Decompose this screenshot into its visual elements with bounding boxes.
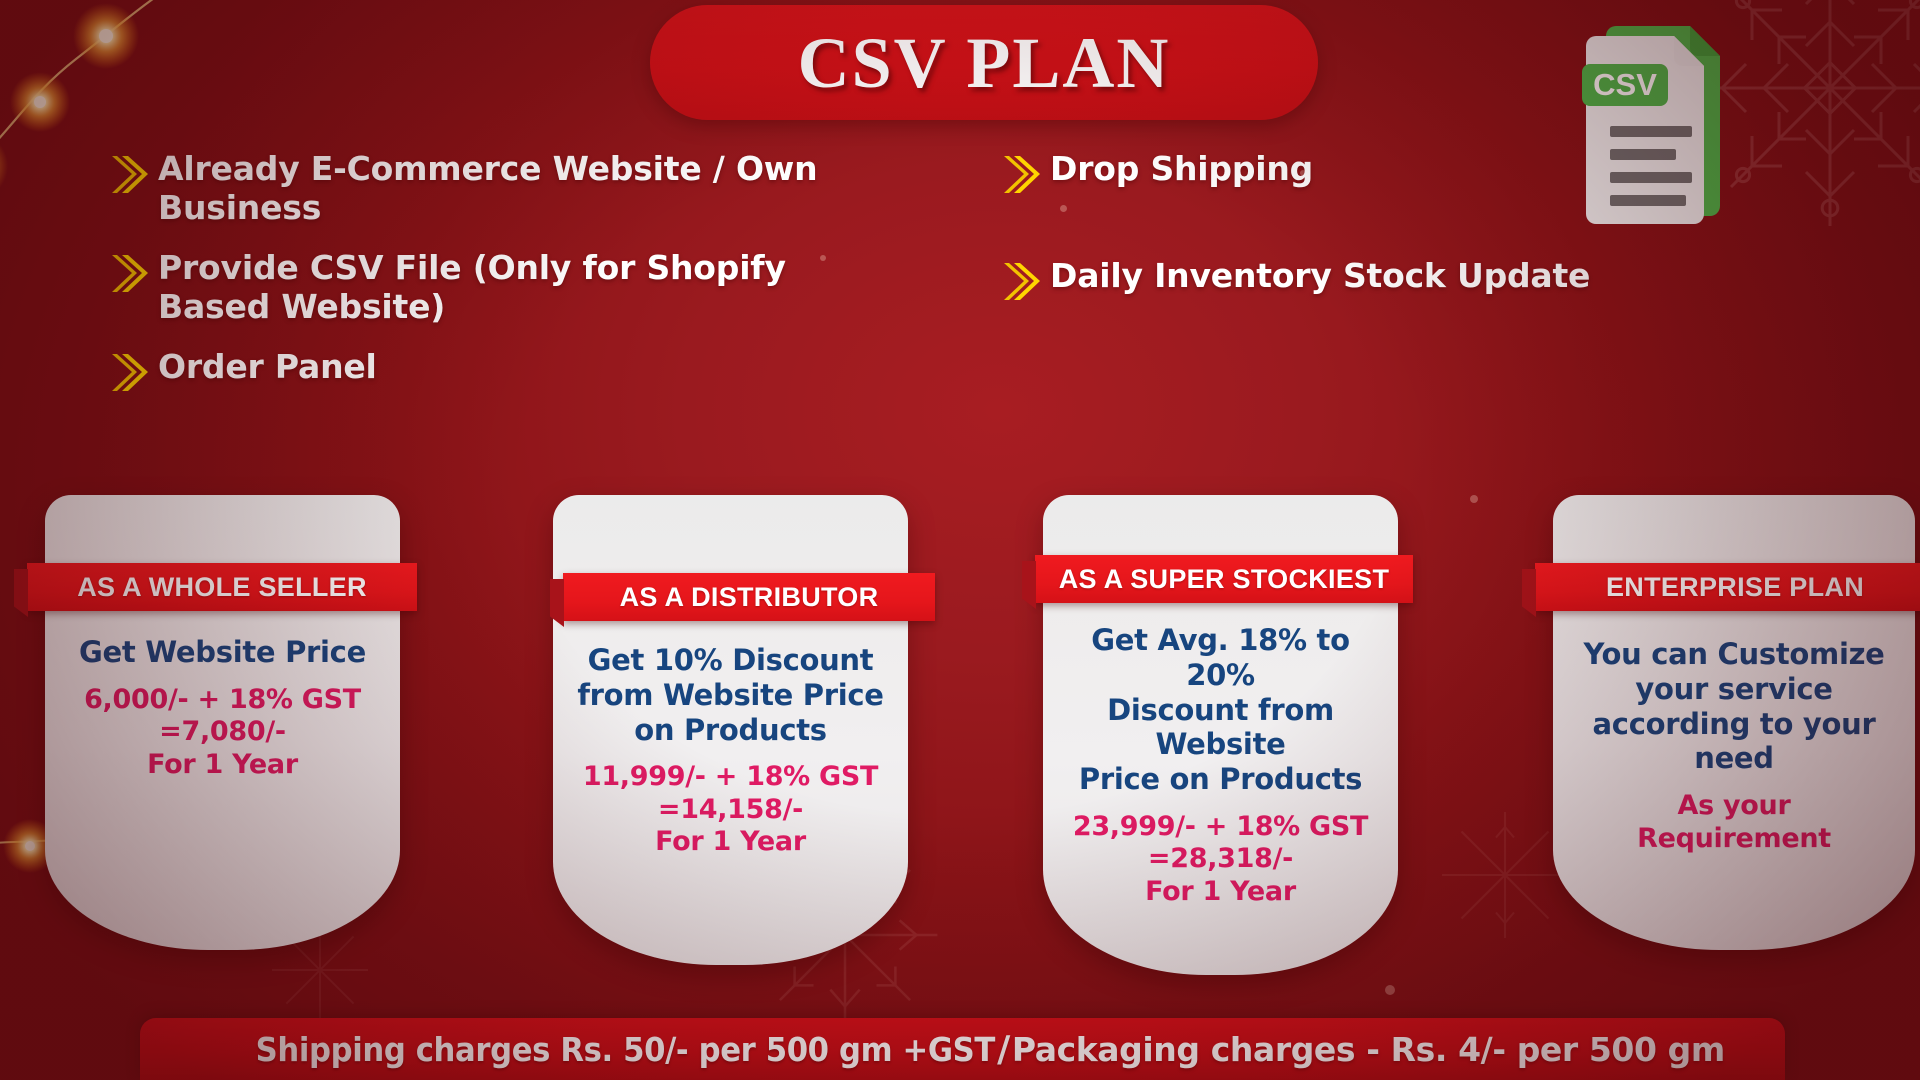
feature-item-label: Order Panel [158,348,377,387]
plan-ribbon-label: AS A SUPER STOCKIEST [1059,564,1390,595]
plan-spacer [565,747,896,761]
plan-headline-line: Website [1055,727,1386,762]
plan-headline-line: Price on Products [1055,762,1386,797]
plan-price-line: For 1 Year [57,749,388,781]
double-chevron-right-icon [108,252,150,296]
feature-item-label: Drop Shipping [1050,150,1313,189]
double-chevron-right-icon [1000,260,1042,304]
charges-footer-bar: Shipping charges Rs. 50/- per 500 gm +GS… [140,1018,1785,1080]
plan-headline-line: You can Customize [1565,637,1903,672]
packaging-charges-text: Packaging charges - Rs. 4/- per 500 gm [1012,1030,1725,1069]
plan-card-content: Get Website Price6,000/- + 18% GST=7,080… [45,635,400,781]
poster-canvas: CSV PLAN CSV Already E-Commerce Website … [0,0,1920,1080]
feature-item: Provide CSV File (Only for Shopify Based… [108,249,868,326]
plan-headline-line: Get Website Price [57,635,388,670]
double-chevron-right-icon [108,351,150,395]
plan-price-line: For 1 Year [1055,876,1386,908]
plan-ribbon-label: AS A DISTRIBUTOR [620,582,879,613]
feature-list-right: Drop ShippingDaily Inventory Stock Updat… [1000,150,1720,364]
feature-item: Daily Inventory Stock Update [1000,257,1720,304]
double-chevron-right-icon [108,153,150,197]
plan-ribbon-label: ENTERPRISE PLAN [1606,572,1864,603]
plan-price-line: 6,000/- + 18% GST [57,684,388,716]
plan-ribbon: AS A DISTRIBUTOR [563,573,935,621]
shipping-charges-text: Shipping charges Rs. 50/- per 500 gm +GS… [256,1030,995,1069]
plan-spacer [1565,776,1903,790]
feature-item-label: Provide CSV File (Only for Shopify Based… [158,249,868,326]
page-title: CSV PLAN [798,27,1171,99]
feature-item-label: Already E-Commerce Website / Own Busines… [158,150,868,227]
plan-card-content: You can Customizeyour serviceaccording t… [1553,637,1915,855]
plan-card-content: Get 10% Discountfrom Website Priceon Pro… [553,643,908,859]
plan-ribbon-label: AS A WHOLE SELLER [77,572,367,603]
plan-card[interactable]: Get 10% Discountfrom Website Priceon Pro… [553,495,908,965]
plan-price-line: 11,999/- + 18% GST [565,761,896,793]
plan-spacer [1055,797,1386,811]
plan-spacer [57,670,388,684]
feature-item: Already E-Commerce Website / Own Busines… [108,150,868,227]
plan-headline-line: according to your [1565,707,1903,742]
plan-headline-line: Get 10% Discount [565,643,896,678]
plan-headline-line: from Website Price [565,678,896,713]
plan-ribbon: AS A WHOLE SELLER [27,563,417,611]
plan-headline-line: Discount from [1055,693,1386,728]
plan-price-line: As your [1565,790,1903,822]
plan-card[interactable]: You can Customizeyour serviceaccording t… [1553,495,1915,950]
plan-price-line: =28,318/- [1055,843,1386,875]
footer-separator: / [997,1029,1010,1070]
plan-headline-line: need [1565,741,1903,776]
ribbon-fold-tab [1022,561,1036,609]
plan-card-row: Get Website Price6,000/- + 18% GST=7,080… [0,495,1920,965]
feature-item-label: Daily Inventory Stock Update [1050,257,1590,296]
bokeh-dot [1385,985,1395,995]
ribbon-fold-tab [1522,569,1536,617]
plan-headline-line: Get Avg. 18% to 20% [1055,623,1386,693]
plan-ribbon: ENTERPRISE PLAN [1535,563,1920,611]
feature-list-left: Already E-Commerce Website / Own Busines… [108,150,868,417]
plan-price-line: =7,080/- [57,716,388,748]
feature-item: Drop Shipping [1000,150,1720,197]
title-banner: CSV PLAN [650,5,1318,120]
double-chevron-right-icon [1000,153,1042,197]
csv-label: CSV [1593,67,1657,102]
plan-price-line: For 1 Year [565,826,896,858]
feature-item: Order Panel [108,348,868,395]
plan-headline-line: your service [1565,672,1903,707]
plan-ribbon: AS A SUPER STOCKIEST [1035,555,1413,603]
plan-card-content: Get Avg. 18% to 20%Discount fromWebsiteP… [1043,623,1398,908]
ribbon-fold-tab [14,569,28,617]
plan-price-line: =14,158/- [565,794,896,826]
plan-price-line: Requirement [1565,823,1903,855]
plan-card[interactable]: Get Avg. 18% to 20%Discount fromWebsiteP… [1043,495,1398,975]
plan-headline-line: on Products [565,713,896,748]
plan-price-line: 23,999/- + 18% GST [1055,811,1386,843]
plan-card[interactable]: Get Website Price6,000/- + 18% GST=7,080… [45,495,400,950]
